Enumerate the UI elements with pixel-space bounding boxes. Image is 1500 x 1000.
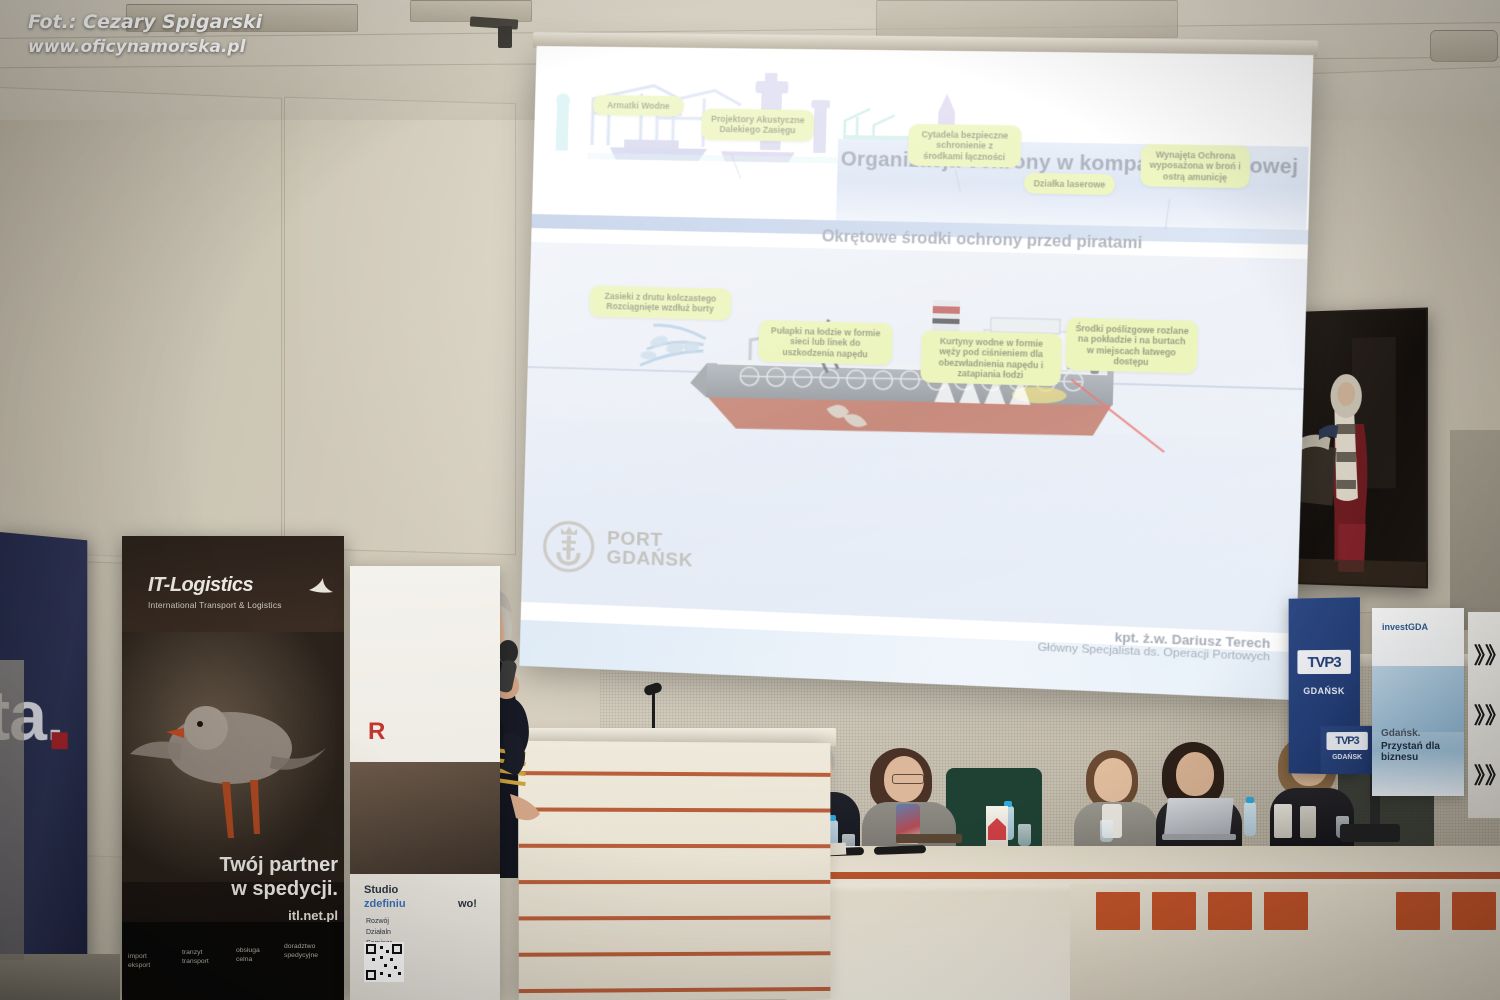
banner-bullet: Działaln [366, 929, 391, 936]
presentation-slide: Organizacja ochrony w kompanii żeglugowe… [519, 46, 1313, 700]
callout-wynajeta-ochrona: Wynajęta Ochrona wyposażona w broń i ost… [1140, 144, 1250, 188]
banner-tvp3-small: TVP3 GDAŃSK [1321, 726, 1374, 774]
tvp3-logo-small: TVP3 [1326, 732, 1367, 750]
banner-chevrons: 》》 [1474, 758, 1500, 790]
head [1094, 758, 1132, 802]
banner-chevrons: 》》 [1474, 638, 1500, 670]
itl-service-item: import eksport [128, 952, 150, 970]
banner-it-logistics: IT-Logistics International Transport & L… [122, 536, 344, 1000]
lectern [519, 741, 831, 1000]
itl-slogan: Twój partner w spedycji. [152, 854, 338, 901]
qr-code [364, 942, 404, 982]
laptop [1164, 798, 1234, 834]
port-logo-text: PORT GDAŃSK [606, 529, 694, 571]
itl-logo: IT-Logistics International Transport & L… [148, 574, 328, 610]
ceiling-vent [876, 0, 1178, 38]
itl-services-strip: import eksport tranzyt transport obsługa… [122, 922, 344, 1000]
banner-accent-letter: R [368, 718, 385, 746]
banner-headline-1: Studio [364, 884, 398, 896]
itl-brand: IT-Logistics [148, 574, 328, 597]
paper-cup [1300, 806, 1316, 838]
investgda-photo [1372, 666, 1464, 732]
callout-dzialka-laserowe: Działka laserowe [1024, 173, 1115, 196]
projector-arm [498, 26, 512, 48]
itl-service-item: tranzyt transport [182, 948, 209, 966]
banner-far-right: 》》 》》 》》 [1468, 612, 1500, 818]
itl-tagline: International Transport & Logistics [148, 600, 328, 610]
port-gdansk-logo: PORT GDAŃSK [540, 515, 754, 585]
banner-white-study: R Studio zdefiniu wo! Rozwój Działaln Se… [350, 566, 500, 1000]
wall-panel [0, 86, 282, 570]
water-bottle [1244, 802, 1256, 836]
callout-armatki: Armatki Wodne [593, 95, 684, 117]
tvp3-logo-text: TVP3 [1307, 653, 1340, 670]
tvp3-city: GDAŃSK [1289, 686, 1360, 696]
tvp3-city-small: GDAŃSK [1321, 754, 1374, 761]
av-equipment [1340, 824, 1400, 842]
callout-zasieki: Zasieki z drutu kolczastego Rozciągnięte… [589, 285, 731, 319]
drinking-glass [1100, 820, 1113, 842]
panelist-2 [862, 748, 958, 860]
watermark-credit: Fot.: Cezary Spigarski [28, 10, 262, 36]
paper-cup [1274, 804, 1292, 838]
projection-screen: Organizacja ochrony w kompanii żeglugowe… [519, 46, 1313, 700]
floor [0, 954, 120, 1000]
eyeglasses [892, 774, 924, 784]
table-panel-square [1096, 892, 1140, 930]
seagull-illustration [122, 632, 344, 882]
table-panel-square [1452, 892, 1496, 930]
banner-headline-3: wo! [458, 898, 477, 910]
investgda-city: Gdańsk. [1381, 728, 1420, 739]
leather-folder [896, 834, 962, 843]
banner-left-accent-dot [52, 732, 68, 749]
drinking-glass [1018, 824, 1031, 846]
banner-headline-2: zdefiniu [364, 898, 406, 910]
itl-service-item: obsługa celna [236, 946, 260, 964]
banner-chevrons: 》》 [1474, 698, 1500, 730]
panelist-3 [1074, 750, 1160, 860]
wall-panel [284, 97, 516, 555]
table-panel-square [1152, 892, 1196, 930]
tvp3-logo: TVP3 [1297, 650, 1350, 674]
banner-photo-area [122, 632, 344, 882]
banner-bullet: Rozwój [366, 918, 389, 925]
callout-kurtyny-wodne: Kurtyny wodne w formie węży pod ciśnieni… [920, 330, 1062, 387]
table-accent-stripe [786, 872, 1500, 879]
itl-service-item: doradztwo spedycyjne [284, 942, 318, 960]
table-panel-square [1208, 892, 1252, 930]
head [1176, 752, 1214, 796]
screen-surface: Organizacja ochrony w kompanii żeglugowe… [519, 46, 1313, 700]
callout-pulapki: Pułapki na łodzie w formie sieci lub lin… [758, 320, 893, 365]
banner-photo [350, 762, 500, 874]
photo-watermark: Fot.: Cezary Spigarski www.oficynamorska… [28, 10, 262, 59]
investgda-tagline: Przystań dla biznesu [1381, 741, 1464, 763]
callout-srodki-poslizgowe: Środki poślizgowe rozlane na pokładzie i… [1065, 318, 1198, 375]
watermark-url: www.oficynamorska.pl [28, 36, 262, 59]
table-panel-square [1264, 892, 1308, 930]
itl-url: itl.net.pl [152, 908, 338, 923]
investgda-logo: investGDA [1382, 622, 1428, 632]
anchor-crown-icon [540, 518, 598, 576]
conference-photo: Organizacja ochrony w kompanii żeglugowe… [0, 0, 1500, 1000]
laptop-base [1162, 834, 1236, 840]
wall-column [0, 660, 24, 960]
banner-investgda: investGDA Gdańsk. Przystań dla biznesu [1372, 608, 1464, 796]
ceiling-light [1430, 30, 1498, 62]
bird-swoosh-icon [308, 576, 334, 594]
table-panel-square [1396, 892, 1440, 930]
wall-recess [1450, 430, 1500, 630]
callout-projektory: Projektory Akustyczne Dalekiego Zasięgu [701, 108, 814, 141]
callout-cytadela: Cytadela bezpieczne schronienie z środka… [908, 124, 1022, 168]
